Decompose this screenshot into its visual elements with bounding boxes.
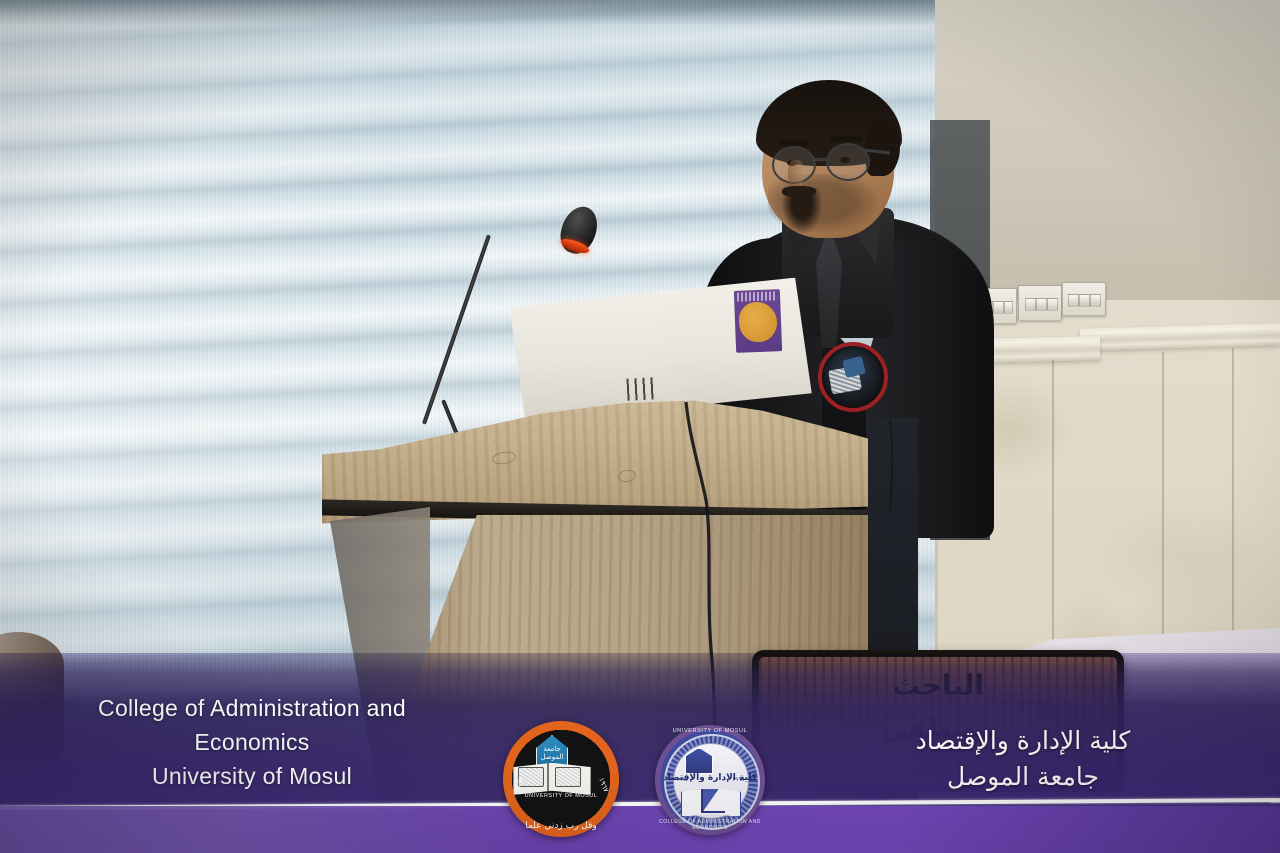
photo-canvas: الباحث مصطفى College of Administration a… bbox=[0, 0, 1280, 853]
english-caption: College of Administration and Economics … bbox=[42, 691, 462, 793]
um-logo-book-page-right bbox=[555, 767, 581, 787]
hair-side bbox=[866, 118, 900, 176]
eyeglass-bridge bbox=[812, 158, 826, 161]
um-logo-arabic-motto: وقل رب زدني علما bbox=[503, 821, 619, 831]
switch-rocker-2b[interactable] bbox=[1036, 298, 1047, 312]
switch-rocker-2a[interactable] bbox=[1025, 298, 1036, 312]
gown-emblem-badge bbox=[818, 342, 888, 412]
english-caption-line2: University of Mosul bbox=[42, 759, 462, 793]
eye-right bbox=[840, 157, 850, 163]
goatee bbox=[782, 188, 822, 234]
eyebrow-right bbox=[830, 136, 862, 142]
um-logo-book-spine bbox=[547, 763, 549, 791]
cae-logo-year-left: ١٩٦٤ bbox=[676, 777, 688, 783]
light-switch-plate-3[interactable] bbox=[1062, 282, 1106, 316]
cae-logo-chart-graphic bbox=[701, 789, 725, 813]
um-logo-english-text: UNIVERSITY OF MOSUL bbox=[503, 793, 619, 799]
cae-logo-arabic-text: كلية الإدارة والإقتصاد bbox=[655, 773, 765, 783]
switch-rocker-3c[interactable] bbox=[1090, 294, 1101, 307]
switch-rocker-3b[interactable] bbox=[1079, 294, 1090, 307]
cae-logo-top-text: UNIVERSITY OF MOSUL bbox=[655, 728, 765, 734]
english-caption-line1: College of Administration and Economics bbox=[42, 691, 462, 759]
cae-logo-bottom-text: COLLEGE OF ADMINISTRATION AND ECONOMICS bbox=[655, 819, 765, 831]
light-switch-plate-2[interactable] bbox=[1018, 285, 1062, 321]
laptop-hinge-vents bbox=[626, 377, 655, 400]
blinds-top-shadow bbox=[0, 0, 960, 26]
um-logo-arch-text: جامعة الموصل bbox=[537, 745, 567, 761]
overlay-bottom-highlight bbox=[0, 806, 1280, 853]
laptop-sticker-emblem bbox=[738, 301, 778, 342]
switch-rocker-2c[interactable] bbox=[1047, 298, 1058, 312]
college-of-administration-and-economics-logo: UNIVERSITY OF MOSUL COLLEGE OF ADMINISTR… bbox=[655, 725, 765, 835]
switch-rocker-3a[interactable] bbox=[1068, 294, 1079, 307]
laptop-sticker-caption bbox=[737, 291, 777, 302]
switch-rocker-1c[interactable] bbox=[1004, 301, 1013, 315]
university-of-mosul-logo: جامعة الموصل UNIVERSITY OF MOSUL ١٩٦٧ ١٩… bbox=[503, 721, 619, 837]
cae-logo-year-right: ١٩٦٨ bbox=[732, 777, 744, 783]
arabic-caption-line1: كلية الإدارة والإقتصاد bbox=[808, 723, 1238, 759]
arabic-caption-line2: جامعة الموصل bbox=[808, 759, 1238, 795]
laptop-sticker bbox=[734, 289, 782, 353]
badge-blue-accent bbox=[842, 356, 866, 378]
arabic-caption: كلية الإدارة والإقتصاد جامعة الموصل bbox=[808, 723, 1238, 795]
